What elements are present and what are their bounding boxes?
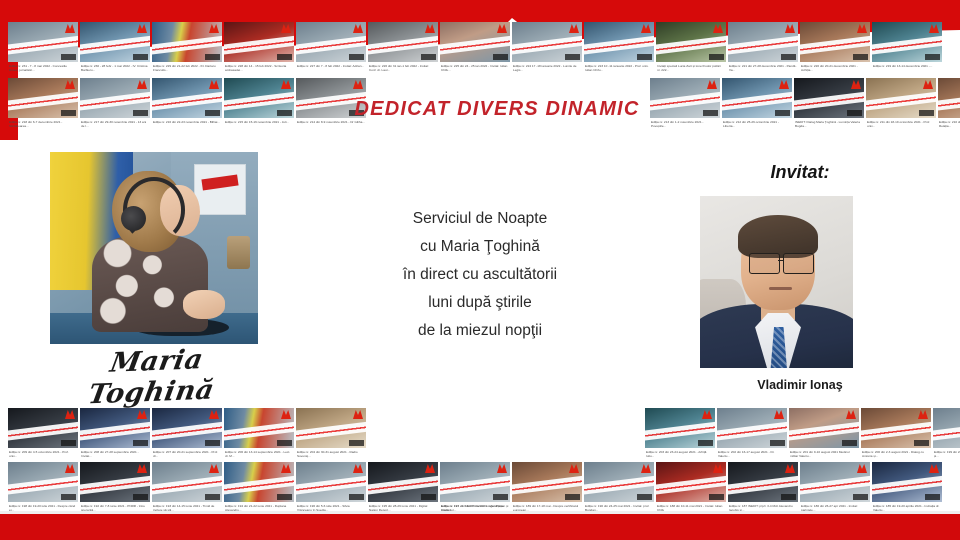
bottom-red-bar bbox=[0, 514, 960, 540]
host-signature: Maria Toghină bbox=[44, 346, 264, 392]
duration-badge bbox=[925, 54, 940, 60]
guest-label: Invitat: bbox=[700, 162, 900, 183]
video-thumbnail-image[interactable] bbox=[800, 22, 870, 62]
video-thumbnail-card[interactable]: Ediția nr. 199 din 26-27 iulie 2021 - De… bbox=[933, 408, 960, 460]
video-thumbnail-image[interactable] bbox=[728, 462, 798, 502]
programme-line-3: în direct cu ascultătorii bbox=[330, 261, 630, 289]
duration-badge bbox=[709, 494, 724, 500]
video-thumbnail-card[interactable]: Ediția nr. 185 din 19-20 aprilie 2021 - … bbox=[872, 462, 942, 514]
video-thumbnail-card[interactable]: INEDIT: Dialog Maria Ţoghină - Lumința V… bbox=[794, 78, 864, 130]
video-thumbnail-image[interactable] bbox=[512, 22, 582, 62]
thumbnail-caption: Ediția nr. 227 din 7 - 8 feb 2022 - Invi… bbox=[296, 62, 366, 74]
video-thumbnail-image[interactable] bbox=[152, 462, 222, 502]
thumbnail-caption: Ediția nr. 218 din 6-7 decembrie 2021 - … bbox=[8, 118, 78, 130]
video-thumbnail-image[interactable] bbox=[8, 408, 78, 448]
studio-poster bbox=[194, 164, 246, 216]
programme-line-4: luni după ştirile bbox=[330, 289, 630, 317]
video-thumbnail-card[interactable]: Ediția nr. 204 din 30-31 august 2021 - R… bbox=[296, 408, 366, 460]
video-thumbnail-card[interactable]: Ediția nr. 195 din 28-29 iunie 2021 - Di… bbox=[368, 462, 438, 514]
video-thumbnail-card[interactable]: Ediția nr. 230 - 28 febr - 1 mar 2022 - … bbox=[80, 22, 150, 74]
duration-badge bbox=[637, 54, 652, 60]
video-thumbnail-image[interactable] bbox=[152, 78, 222, 118]
video-thumbnail-card[interactable]: Ediția nr. 202 din 16-17 august 2021 - D… bbox=[717, 408, 787, 460]
video-thumbnail-image[interactable] bbox=[368, 22, 438, 62]
duration-badge bbox=[61, 110, 76, 116]
video-thumbnail-card[interactable]: Ediția nr. 194 din 21-22 iunie 2021 - Ru… bbox=[224, 462, 294, 514]
thumbnail-caption: Ediția nr. 215 din 15-16 noiembrie 2021 … bbox=[224, 118, 294, 130]
duration-badge bbox=[914, 440, 929, 446]
thumbnail-grid-top-row-2-right[interactable]: Ediția nr. 213 din 1-2 noiembrie 2021 - … bbox=[650, 78, 960, 130]
duration-badge bbox=[853, 54, 868, 60]
thumbnail-caption: Ediția nr. 223 10 -11 ianuarie 2022 - Pr… bbox=[584, 62, 654, 74]
video-thumbnail-card[interactable]: Ediția nr. 190 din 24-25 mai 2021 - Invi… bbox=[584, 462, 654, 514]
duration-badge bbox=[421, 494, 436, 500]
video-thumbnail-card[interactable]: Ediția nr. 192 din 7-8 iunie 2021 - PNRR… bbox=[80, 462, 150, 514]
video-thumbnail-image[interactable] bbox=[80, 78, 150, 118]
video-thumbnail-card[interactable]: Ediția nr. 187 INEDIT: p/p/I. 3-4 MAI Al… bbox=[728, 462, 798, 514]
duration-badge bbox=[61, 54, 76, 60]
video-thumbnail-image[interactable] bbox=[645, 408, 715, 448]
video-thumbnail-image[interactable] bbox=[8, 22, 78, 62]
programme-line-2: cu Maria Ţoghină bbox=[330, 233, 630, 261]
video-thumbnail-image[interactable] bbox=[152, 22, 222, 62]
video-thumbnail-image[interactable] bbox=[872, 462, 942, 502]
duration-badge bbox=[925, 494, 940, 500]
video-thumbnail-card[interactable]: Ediția nr. 220 din 20-21 decembrie 2021 … bbox=[800, 22, 870, 74]
duration-badge bbox=[919, 110, 934, 116]
thumbnail-caption: Ediția nr. 221 din 27-28 decembrie 2021 … bbox=[728, 62, 798, 74]
duration-badge bbox=[205, 110, 220, 116]
video-thumbnail-image[interactable] bbox=[296, 462, 366, 502]
video-thumbnail-image[interactable] bbox=[728, 22, 798, 62]
thumbnail-grid-bottom-row-1-left[interactable]: Ediția nr. 209 din 4-5 octombrie 2021 - … bbox=[8, 408, 366, 460]
thumbnail-caption: Ediția nr. 230 - 28 febr - 1 mar 2022 - … bbox=[80, 62, 150, 74]
video-thumbnail-card[interactable]: Ediția nr. 221 din 27-28 decembrie 2021 … bbox=[728, 22, 798, 74]
duration-badge bbox=[277, 54, 292, 60]
microphone-icon bbox=[227, 236, 250, 269]
video-thumbnail-card[interactable]: Ediția nr. 207 din 20-21 septembrie 2021… bbox=[152, 408, 222, 460]
duration-badge bbox=[770, 440, 785, 446]
video-thumbnail-image[interactable] bbox=[872, 22, 942, 62]
video-thumbnail-image[interactable] bbox=[80, 462, 150, 502]
video-thumbnail-image[interactable] bbox=[800, 462, 870, 502]
thumbnail-caption: Ediția nr. 229 din 21-22 feb 2022 - IN. … bbox=[152, 62, 222, 74]
video-thumbnail-image[interactable] bbox=[368, 462, 438, 502]
video-thumbnail-card[interactable]: Ediția nr. 188 din 10-11 mai 2021 - Invi… bbox=[656, 462, 726, 514]
thumbnail-caption: Ediția nr. 208 din 27-28 septembrie 2021… bbox=[80, 448, 150, 460]
eyeglasses-icon-right bbox=[783, 253, 814, 274]
video-thumbnail-card[interactable]: Ediția nr. 200 din 2-3 august 2021 - Dia… bbox=[861, 408, 931, 460]
video-thumbnail-image[interactable] bbox=[866, 78, 936, 118]
thumbnail-caption: Ediția nr. 216 din 22-23 noiembrie 2021 … bbox=[152, 118, 222, 130]
duration-badge bbox=[133, 110, 148, 116]
video-thumbnail-image[interactable] bbox=[224, 408, 294, 448]
thumbnail-caption: Ediția nr. 211 din 18-19 octombrie 2021 … bbox=[866, 118, 936, 130]
duration-badge bbox=[847, 110, 862, 116]
thumbnail-grid-top-row-2-left[interactable]: Ediția nr. 218 din 6-7 decembrie 2021 - … bbox=[8, 78, 366, 130]
duration-badge bbox=[61, 440, 76, 446]
video-thumbnail-card[interactable]: Ediția nr. 226 din 31 ian-1 feb 2022 - I… bbox=[368, 22, 438, 74]
video-thumbnail-image[interactable] bbox=[861, 408, 931, 448]
video-thumbnail-image[interactable] bbox=[794, 78, 864, 118]
video-thumbnail-image[interactable] bbox=[722, 78, 792, 118]
video-thumbnail-image[interactable] bbox=[80, 408, 150, 448]
video-thumbnail-card[interactable]: Ediția nr. 196 din 5-6 iulie 2021 - Silv… bbox=[296, 462, 366, 514]
video-thumbnail-card[interactable]: Ediția nr. 227 din 7 - 8 feb 2022 - Invi… bbox=[296, 22, 366, 74]
thumbnail-caption: Ediția nr. 199 din 26-27 iulie 2021 - De… bbox=[933, 448, 960, 460]
guest-name: Vladimir Ionaş bbox=[690, 378, 910, 392]
thumbnail-caption: Ediția nr. 224 17 -18 ianuarie 2022 - Lu… bbox=[512, 62, 582, 74]
guest-mouth bbox=[769, 287, 792, 290]
duration-badge bbox=[565, 54, 580, 60]
thumbnail-caption: Ediția nr. 213 din 1-2 noiembrie 2021 - … bbox=[650, 118, 720, 130]
video-thumbnail-card[interactable]: Ediția nr. 213 din 1-2 noiembrie 2021 - … bbox=[650, 78, 720, 130]
video-thumbnail-image[interactable] bbox=[296, 408, 366, 448]
video-thumbnail-image[interactable] bbox=[224, 462, 294, 502]
video-thumbnail-image[interactable] bbox=[656, 22, 726, 62]
thumbnail-grid-bottom-row-2-right[interactable]: Ediția nr. 191 - 1 INEDIT Invitat: Grego… bbox=[440, 462, 942, 514]
video-thumbnail-image[interactable] bbox=[650, 78, 720, 118]
thumbnail-caption: Ediția nr. 202 din 16-17 august 2021 - D… bbox=[717, 448, 787, 460]
duration-badge bbox=[775, 110, 790, 116]
video-thumbnail-image[interactable] bbox=[656, 462, 726, 502]
video-thumbnail-card[interactable]: Ediția nr. 219 din 13-14 decembrie 2021 … bbox=[872, 22, 942, 74]
duration-badge bbox=[133, 440, 148, 446]
duration-badge bbox=[565, 494, 580, 500]
duration-badge bbox=[842, 440, 857, 446]
video-thumbnail-card[interactable]: Ediția nr. 215 din 15-16 noiembrie 2021 … bbox=[224, 78, 294, 130]
video-thumbnail-card[interactable]: Ediția nr. 193 din 14-15 iunie 2021 - Ti… bbox=[152, 462, 222, 514]
duration-badge bbox=[133, 54, 148, 60]
video-thumbnail-image[interactable] bbox=[933, 408, 960, 448]
video-thumbnail-image[interactable] bbox=[789, 408, 859, 448]
video-thumbnail-card[interactable]: Ediția nr. 209 din 4-5 octombrie 2021 - … bbox=[8, 408, 78, 460]
thumbnail-caption: Invitați speciali Lucia Zart și Ionel Fu… bbox=[656, 62, 726, 74]
duration-badge bbox=[703, 110, 718, 116]
video-thumbnail-image[interactable] bbox=[512, 462, 582, 502]
video-thumbnail-image[interactable] bbox=[8, 78, 78, 118]
video-thumbnail-card[interactable]: Ediția nr. 217 din 29-30 noiembrie 2021 … bbox=[80, 78, 150, 130]
video-thumbnail-image[interactable] bbox=[938, 78, 960, 118]
thumbnail-caption: Ediția nr. 228 din 14 - 15 feb 2022 - Sc… bbox=[224, 62, 294, 74]
thumbnail-caption: Ediția nr. 206 din 13-14 septembrie 2021… bbox=[224, 448, 294, 460]
duration-badge bbox=[277, 440, 292, 446]
duration-badge bbox=[781, 54, 796, 60]
video-thumbnail-card[interactable]: Invitați speciali Lucia Zart și Ionel Fu… bbox=[656, 22, 726, 74]
video-thumbnail-image[interactable] bbox=[584, 22, 654, 62]
page-title: DEDICAT DIVERS DINAMIC bbox=[352, 98, 642, 121]
thumbnail-grid-bottom-row-2-left[interactable]: Ediția nr. 198 din 19-20 iulie 2021 - De… bbox=[8, 462, 510, 514]
video-thumbnail-image[interactable] bbox=[296, 22, 366, 62]
video-thumbnail-card[interactable]: Ediția nr. 229 din 21-22 feb 2022 - IN. … bbox=[152, 22, 222, 74]
programme-text: Serviciul de Noapte cu Maria Ţoghină în … bbox=[330, 205, 630, 345]
duration-badge bbox=[709, 54, 724, 60]
eyeglasses-icon-left bbox=[749, 253, 780, 274]
thumbnail-caption: Ediția nr. 219 din 13-14 decembrie 2021 … bbox=[872, 62, 942, 74]
guest-hair bbox=[738, 215, 818, 258]
video-thumbnail-image[interactable] bbox=[80, 22, 150, 62]
duration-badge bbox=[277, 494, 292, 500]
host-photo-image bbox=[50, 152, 258, 344]
thumbnail-caption: Ediția nr. 209 din 4-5 octombrie 2021 - … bbox=[8, 448, 78, 460]
video-thumbnail-card[interactable]: Ediția nr. 212 din 25-26 octombrie 2021 … bbox=[722, 78, 792, 130]
thumbnail-caption: Ediția nr. 207 din 20-21 septembrie 2021… bbox=[152, 448, 222, 460]
thumbnail-caption: Ediția nr. 203 din 23-24 august 2021 - A… bbox=[645, 448, 715, 460]
thumbnail-caption: INEDIT: Dialog Maria Ţoghină - Lumința V… bbox=[794, 118, 864, 130]
video-thumbnail-card[interactable]: Ediția nr. 208 din 27-28 septembrie 2021… bbox=[80, 408, 150, 460]
video-thumbnail-card[interactable]: Ediția nr. 189 din 17-18 mai - Despre ce… bbox=[512, 462, 582, 514]
video-thumbnail-card[interactable]: Ediția nr. 231 - 7 - 8 mar 2022 - Conces… bbox=[8, 22, 78, 74]
video-thumbnail-image[interactable] bbox=[440, 462, 510, 502]
duration-badge bbox=[61, 494, 76, 500]
duration-badge bbox=[205, 54, 220, 60]
thumbnail-caption: Ediția nr. 210 din 11-12 octombrie 2021 … bbox=[938, 118, 960, 130]
video-thumbnail-card[interactable]: Ediția nr. 210 din 11-12 octombrie 2021 … bbox=[938, 78, 960, 130]
video-thumbnail-image[interactable] bbox=[440, 22, 510, 62]
thumbnail-caption: Ediția nr. 225 din 24 - 25 ian 2022 - In… bbox=[440, 62, 510, 74]
poster-canvas: Ediția nr. 231 - 7 - 8 mar 2022 - Conces… bbox=[0, 0, 960, 540]
eyeglasses-bridge bbox=[778, 260, 783, 262]
duration-badge bbox=[493, 54, 508, 60]
headphone-cup bbox=[121, 206, 146, 231]
duration-badge bbox=[637, 494, 652, 500]
video-thumbnail-card[interactable]: Ediția nr. 186 din 26-27 apr 2021 - Invi… bbox=[800, 462, 870, 514]
thumbnail-caption: Ediția nr. 226 din 31 ian-1 feb 2022 - I… bbox=[368, 62, 438, 74]
video-thumbnail-card[interactable]: Ediția nr. 191 - 1 INEDIT Invitat: Grego… bbox=[440, 462, 510, 514]
host-photo bbox=[50, 152, 258, 344]
guest-photo bbox=[700, 196, 853, 368]
thumbnail-caption: Ediția nr. 204 din 30-31 august 2021 - R… bbox=[296, 448, 366, 460]
video-thumbnail-image[interactable] bbox=[224, 22, 294, 62]
programme-line-1: Serviciul de Noapte bbox=[330, 205, 630, 233]
video-thumbnail-card[interactable]: Ediția nr. 201 din 9-10 august 2021 Medi… bbox=[789, 408, 859, 460]
duration-badge bbox=[349, 494, 364, 500]
duration-badge bbox=[133, 494, 148, 500]
video-thumbnail-image[interactable] bbox=[584, 462, 654, 502]
thumbnail-caption: Ediția nr. 217 din 29-30 noiembrie 2021 … bbox=[80, 118, 150, 130]
host-hands bbox=[183, 290, 225, 319]
duration-badge bbox=[277, 110, 292, 116]
duration-badge bbox=[853, 494, 868, 500]
duration-badge bbox=[349, 440, 364, 446]
video-thumbnail-card[interactable]: Ediția nr. 203 din 23-24 august 2021 - A… bbox=[645, 408, 715, 460]
video-thumbnail-card[interactable]: Ediția nr. 224 17 -18 ianuarie 2022 - Lu… bbox=[512, 22, 582, 74]
video-thumbnail-image[interactable] bbox=[8, 462, 78, 502]
duration-badge bbox=[349, 54, 364, 60]
thumbnail-caption: Ediția nr. 220 din 20-21 decembrie 2021 … bbox=[800, 62, 870, 74]
video-thumbnail-card[interactable]: Ediția nr. 216 din 22-23 noiembrie 2021 … bbox=[152, 78, 222, 130]
video-thumbnail-image[interactable] bbox=[717, 408, 787, 448]
thumbnail-caption: Ediția nr. 212 din 25-26 octombrie 2021 … bbox=[722, 118, 792, 130]
programme-line-5: de la miezul nopţii bbox=[330, 317, 630, 345]
thumbnail-grid-top-row-1[interactable]: Ediția nr. 231 - 7 - 8 mar 2022 - Conces… bbox=[8, 22, 942, 74]
duration-badge bbox=[493, 494, 508, 500]
video-thumbnail-card[interactable]: Ediția nr. 198 din 19-20 iulie 2021 - De… bbox=[8, 462, 78, 514]
video-thumbnail-image[interactable] bbox=[152, 408, 222, 448]
duration-badge bbox=[205, 440, 220, 446]
thumbnail-grid-bottom-row-1-right[interactable]: Ediția nr. 203 din 23-24 august 2021 - A… bbox=[645, 408, 960, 460]
thumbnail-caption: Ediția nr. 201 din 9-10 august 2021 Medi… bbox=[789, 448, 859, 460]
host-signature-text: Maria Toghină bbox=[38, 342, 270, 412]
duration-badge bbox=[421, 54, 436, 60]
thumbnail-caption: Ediția nr. 200 din 2-3 august 2021 - Dia… bbox=[861, 448, 931, 460]
video-thumbnail-card[interactable]: Ediția nr. 218 din 6-7 decembrie 2021 - … bbox=[8, 78, 78, 130]
video-thumbnail-card[interactable]: Ediția nr. 228 din 14 - 15 feb 2022 - Sc… bbox=[224, 22, 294, 74]
video-thumbnail-image[interactable] bbox=[224, 78, 294, 118]
duration-badge bbox=[698, 440, 713, 446]
video-thumbnail-card[interactable]: Ediția nr. 206 din 13-14 septembrie 2021… bbox=[224, 408, 294, 460]
duration-badge bbox=[781, 494, 796, 500]
thumbnail-caption: Ediția nr. 231 - 7 - 8 mar 2022 - Conces… bbox=[8, 62, 78, 74]
duration-badge bbox=[205, 494, 220, 500]
video-thumbnail-card[interactable]: Ediția nr. 223 10 -11 ianuarie 2022 - Pr… bbox=[584, 22, 654, 74]
video-thumbnail-card[interactable]: Ediția nr. 211 din 18-19 octombrie 2021 … bbox=[866, 78, 936, 130]
video-thumbnail-card[interactable]: Ediția nr. 225 din 24 - 25 ian 2022 - In… bbox=[440, 22, 510, 74]
